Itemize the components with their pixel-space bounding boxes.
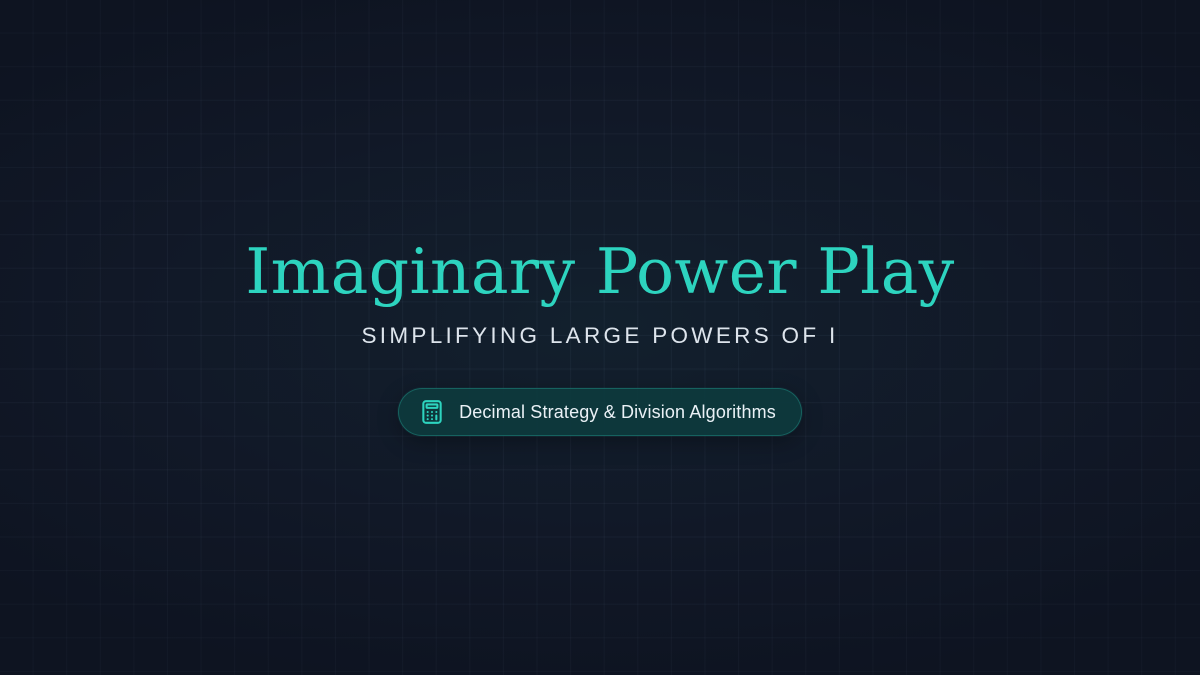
topic-badge: Decimal Strategy & Division Algorithms [398,388,802,436]
calculator-icon [419,399,445,425]
title-slide: Imaginary Power Play SIMPLIFYING LARGE P… [0,0,1200,675]
topic-badge-label: Decimal Strategy & Division Algorithms [459,402,776,423]
page-subtitle: SIMPLIFYING LARGE POWERS OF I [361,323,838,349]
slide-content: Imaginary Power Play SIMPLIFYING LARGE P… [0,0,1200,675]
page-title: Imaginary Power Play [245,239,954,306]
